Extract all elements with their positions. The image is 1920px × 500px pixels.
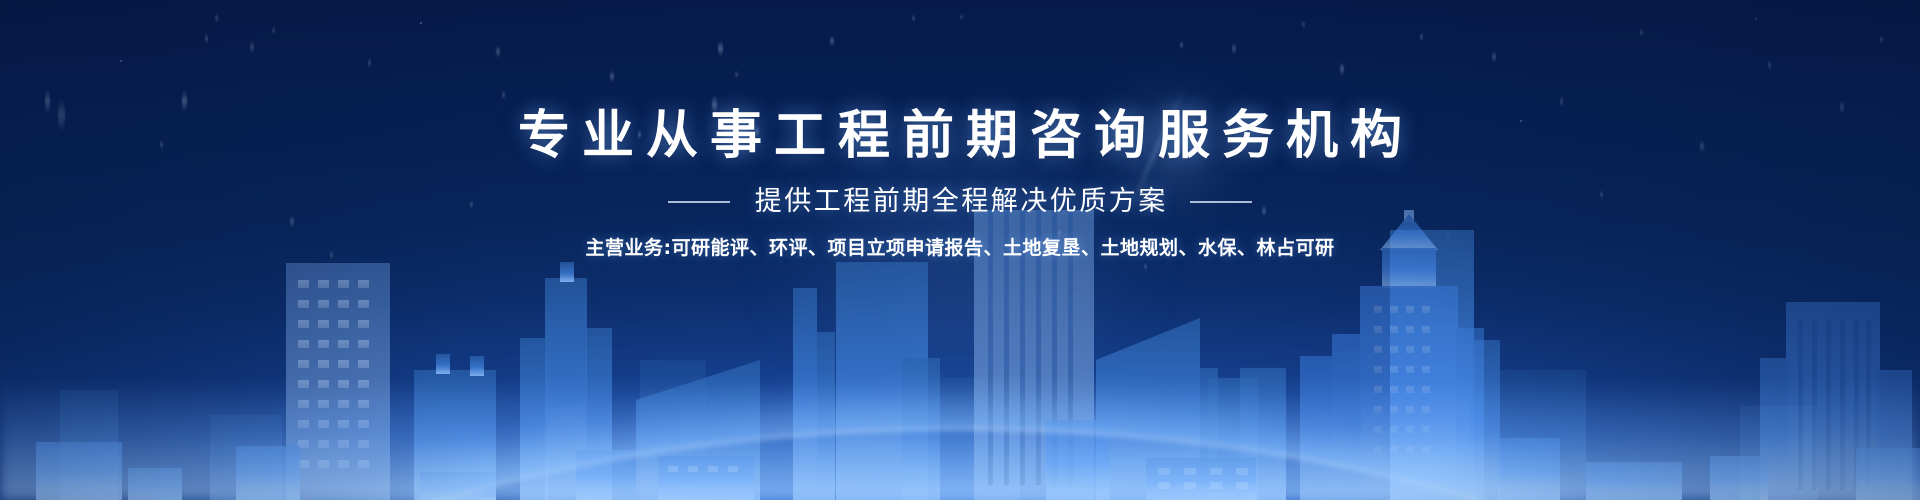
rule-left-decor-icon [668,201,730,203]
rule-right-decor-icon [1190,201,1252,203]
banner-services-line: 主营业务:可研能评、环评、项目立项申请报告、土地复垦、土地规划、水保、林占可研 [0,239,1920,258]
banner-subheadline-row: 提供工程前期全程解决优质方案 [0,188,1920,215]
hero-banner: 专业从事工程前期咨询服务机构 提供工程前期全程解决优质方案 主营业务:可研能评、… [0,0,1920,500]
banner-headline: 专业从事工程前期咨询服务机构 [0,0,1920,162]
banner-text-block: 专业从事工程前期咨询服务机构 提供工程前期全程解决优质方案 主营业务:可研能评、… [0,0,1920,258]
banner-subheadline: 提供工程前期全程解决优质方案 [752,188,1168,215]
